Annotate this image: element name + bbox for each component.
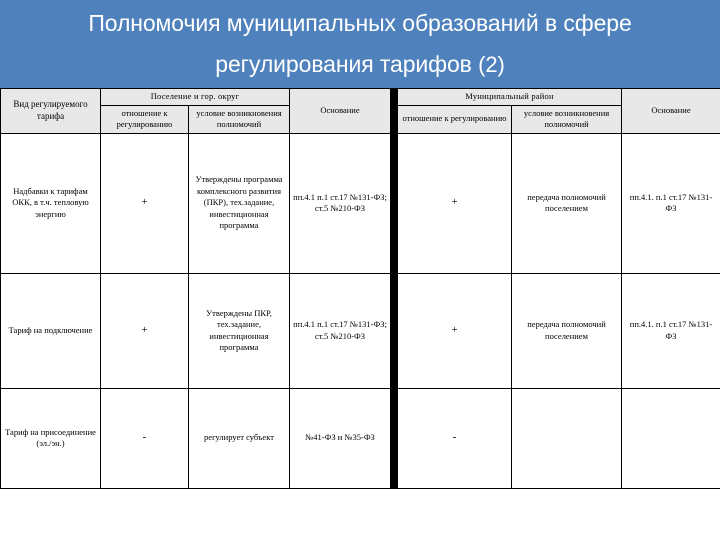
cell-district-condition: передача полномочий поселением — [512, 273, 622, 388]
cell-settlement-condition: Утверждены программа комплексного развит… — [189, 133, 290, 273]
slide-title-banner: Полномочия муниципальных образований в с… — [0, 0, 720, 88]
page-title-line-2: регулирования тарифов (2) — [0, 44, 720, 85]
header-group-settlement: Поселение и гор. округ — [101, 89, 290, 106]
cell-tariff-kind: Надбавки к тарифам ОКК, в т.ч. тепловую … — [1, 133, 101, 273]
cell-settlement-condition: Утверждены ПКР, тех.задание, инвестицион… — [189, 273, 290, 388]
tariff-authority-table: Вид регулируемого тарифа Поселение и гор… — [0, 88, 720, 489]
cell-district-relation: + — [398, 133, 512, 273]
table-row: Тариф на присоединение (эл./эн.) - регул… — [1, 388, 720, 488]
tariff-authority-table-container: Вид регулируемого тарифа Поселение и гор… — [0, 88, 720, 540]
cell-district-condition: передача полномочий поселением — [512, 133, 622, 273]
cell-district-condition — [512, 388, 622, 488]
cell-settlement-relation: + — [101, 133, 189, 273]
header-district-basis: Основание — [622, 89, 720, 134]
table-row: Надбавки к тарифам ОКК, в т.ч. тепловую … — [1, 133, 720, 273]
cell-settlement-condition: регулирует субъект — [189, 388, 290, 488]
cell-tariff-kind: Тариф на подключение — [1, 273, 101, 388]
cell-district-basis: пп.4.1. п.1 ст.17 №131-ФЗ — [622, 273, 720, 388]
cell-district-basis — [622, 388, 720, 488]
table-row: Тариф на подключение + Утверждены ПКР, т… — [1, 273, 720, 388]
cell-settlement-basis: пп.4.1 п.1 ст.17 №131-ФЗ; ст.5 №210-ФЗ — [290, 273, 391, 388]
header-district-relation: отношение к регулированию — [398, 105, 512, 133]
header-settlement-condition: условие возникновения полномочий — [189, 105, 290, 133]
cell-tariff-kind: Тариф на присоединение (эл./эн.) — [1, 388, 101, 488]
cell-district-basis: пп.4.1. п.1 ст.17 №131-ФЗ — [622, 133, 720, 273]
cell-settlement-relation: - — [101, 388, 189, 488]
cell-settlement-relation: + — [101, 273, 189, 388]
vertical-section-divider — [391, 89, 398, 489]
cell-settlement-basis: пп.4.1 п.1 ст.17 №131-ФЗ; ст.5 №210-ФЗ — [290, 133, 391, 273]
header-settlement-relation: отношение к регулированию — [101, 105, 189, 133]
cell-settlement-basis: №41-ФЗ и №35-ФЗ — [290, 388, 391, 488]
header-group-district: Муниципальный район — [398, 89, 622, 106]
page-title-part-number: (2) — [478, 52, 505, 77]
page-title-line-1: Полномочия муниципальных образований в с… — [0, 3, 720, 44]
page-title-line-2-text: регулирования тарифов — [215, 51, 478, 77]
header-settlement-basis: Основание — [290, 89, 391, 134]
header-cell-tariff-kind: Вид регулируемого тарифа — [1, 89, 101, 134]
table-group-header-row: Вид регулируемого тарифа Поселение и гор… — [1, 89, 720, 106]
cell-district-relation: + — [398, 273, 512, 388]
cell-district-relation: - — [398, 388, 512, 488]
header-district-condition: условие возникновения полномочий — [512, 105, 622, 133]
